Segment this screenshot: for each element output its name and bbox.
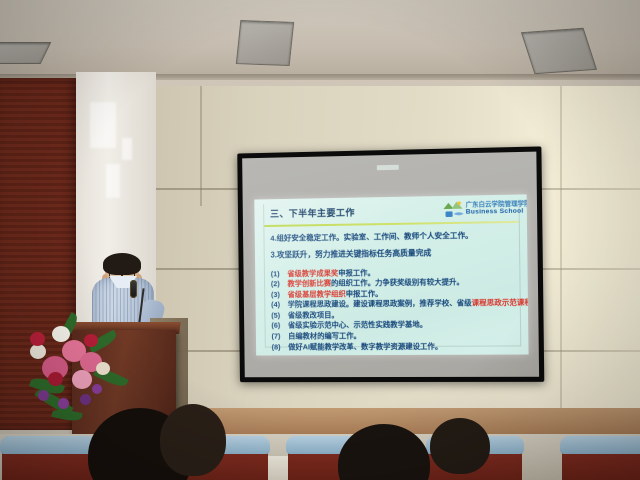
list-item-text: 省级实验示范中心、示范性实践教学基地。 [288, 320, 427, 330]
list-item-highlight: 课程思政示范课程。 [472, 298, 529, 308]
audience-head [160, 404, 226, 476]
list-item-number: (2) [271, 280, 288, 291]
list-item-number: (5) [271, 311, 288, 322]
list-item-number: (6) [271, 321, 288, 332]
list-item-number: (3) [271, 290, 288, 301]
slide-lead-line-1: 4.组好安全稳定工作。实验室、工作间、教师个人安全工作。 [270, 231, 519, 243]
projection-screen: 三、下半年主要工作 广东白云学院管理学院 Business School 4.组… [237, 146, 544, 382]
list-item-text: 省级教改项目。 [288, 310, 339, 319]
list-item-number: (1) [271, 269, 288, 280]
slide-body: 4.组好安全稳定工作。实验室、工作间、教师个人安全工作。 3.攻坚跃升，努力推进… [270, 231, 520, 353]
list-item-text: 学院课程思政建设。建设课程思政案例，推荐学校、省级 [288, 299, 472, 310]
list-item-highlight: 省级教学成果奖 [287, 269, 338, 279]
list-item-text: 申报工作。 [338, 268, 375, 277]
audience-head [430, 418, 490, 474]
presentation-slide: 三、下半年主要工作 广东白云学院管理学院 Business School 4.组… [254, 194, 528, 355]
mountain-wave-logo-icon [442, 201, 464, 220]
slide-list-item: (4)学院课程思政建设。建设课程思政案例，推荐学校、省级课程思政示范课程。 [271, 298, 520, 311]
list-item-highlight: 省级基层教学组织 [288, 289, 346, 298]
list-item-text: 做好AI赋能教学改革、数字教学资源建设工作。 [288, 341, 442, 351]
list-item-text: 的组织工作。力争获奖级别有较大提升。 [331, 278, 464, 288]
screen-center-mark [376, 165, 398, 170]
school-logo: 广东白云学院管理学院 Business School [442, 199, 517, 221]
slide-title: 三、下半年主要工作 [270, 205, 355, 220]
ceiling-vent-icon [236, 20, 294, 66]
list-item-highlight: 教学创新比赛 [287, 279, 331, 288]
list-item-text: 申报工作。 [346, 289, 383, 298]
list-item-number: (8) [272, 342, 289, 352]
slide-numbered-list: (1)省级教学成果奖申报工作。(2)教学创新比赛的组织工作。力争获奖级别有较大提… [271, 266, 521, 352]
ceiling-vent-icon [521, 28, 597, 74]
list-item-number: (7) [271, 332, 288, 342]
microphone-icon [130, 280, 137, 298]
list-item-text: 自编教材的编写工作。 [288, 331, 361, 340]
slide-list-item: (8)做好AI赋能教学改革、数字教学资源建设工作。 [272, 341, 521, 353]
audience-seat [562, 428, 640, 480]
slide-lead-line-2: 3.攻坚跃升，努力推进关键指标任务高质量完成 [271, 249, 520, 261]
flower-arrangement [28, 318, 132, 424]
list-item-number: (4) [271, 300, 288, 311]
wall-seam [200, 86, 202, 206]
school-logo-en: Business School [466, 208, 524, 216]
speaker-hair [103, 253, 141, 275]
presentation-photo-scene: 三、下半年主要工作 广东白云学院管理学院 Business School 4.组… [0, 0, 640, 480]
audience-seat [2, 428, 94, 480]
screen-surface: 三、下半年主要工作 广东白云学院管理学院 Business School 4.组… [242, 152, 539, 378]
